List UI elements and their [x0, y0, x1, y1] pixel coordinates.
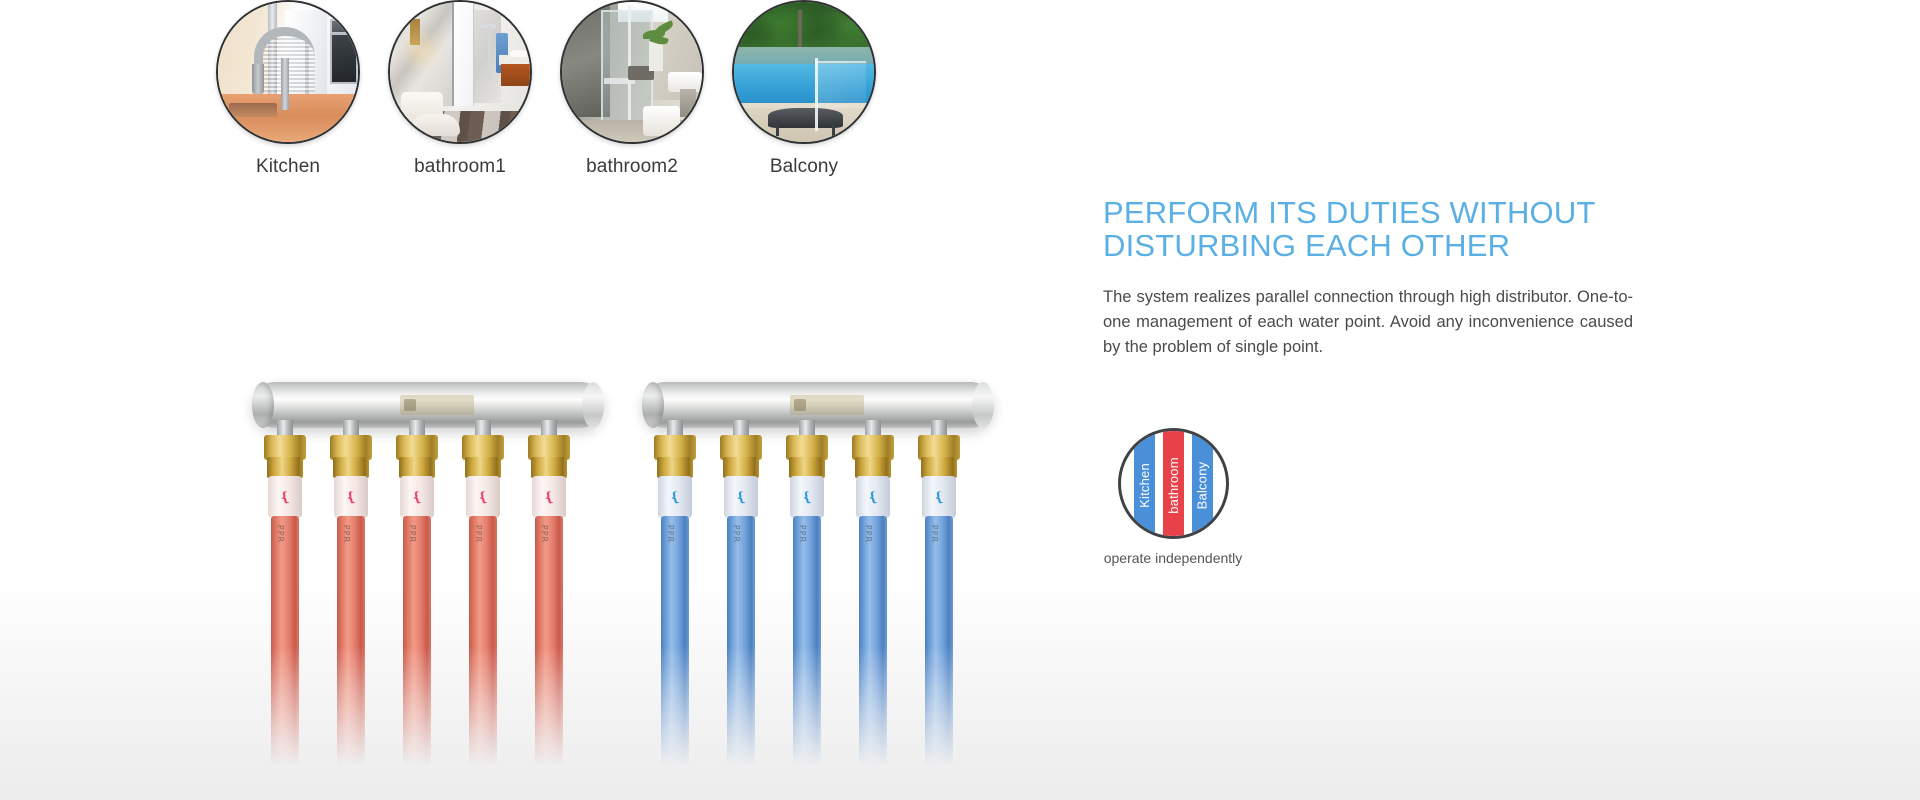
pipe-socket: ❴: [790, 476, 824, 518]
manifold-end-cap-right: [972, 382, 994, 428]
badge-stripe-balcony: Balcony: [1192, 428, 1213, 539]
manifold-end-cap-right: [582, 382, 604, 428]
room-thumbnail-bathroom2[interactable]: bathroom2: [544, 0, 720, 178]
cold-water-pipe: PPR: [727, 516, 755, 766]
pipe-print-text: PPR: [408, 525, 417, 543]
cold-water-pipe: PPR: [925, 516, 953, 766]
socket-logo-icon: ❴: [344, 489, 358, 506]
badge-caption: operate independently: [1103, 550, 1243, 566]
pipe-socket: ❴: [922, 476, 956, 518]
room-thumbnail-label: Balcony: [716, 156, 892, 178]
copy-block: PERFORM ITS DUTIES WITHOUT DISTURBING EA…: [1103, 196, 1633, 360]
page-title: PERFORM ITS DUTIES WITHOUT DISTURBING EA…: [1103, 196, 1633, 263]
socket-logo-icon: ❴: [866, 489, 880, 506]
pipe-socket: ❴: [532, 476, 566, 518]
hot-water-pipe: PPR: [403, 516, 431, 766]
room-thumbnail-balcony[interactable]: Balcony: [716, 0, 892, 178]
cold-water-pipe: PPR: [793, 516, 821, 766]
pipe-print-text: PPR: [798, 525, 807, 543]
room-thumbnail-label: Kitchen: [200, 156, 376, 178]
cold-water-pipe: PPR: [661, 516, 689, 766]
socket-logo-icon: ❴: [800, 489, 814, 506]
pipe-print-text: PPR: [930, 525, 939, 543]
room-thumbnail-label: bathroom1: [372, 156, 548, 178]
socket-logo-icon: ❴: [476, 489, 490, 506]
brass-collar: [723, 457, 759, 478]
promo-banner: Kitchen: [0, 0, 1920, 800]
pipe-socket: ❴: [400, 476, 434, 518]
badge-stripe-kitchen: Kitchen: [1134, 428, 1155, 539]
cold-water-manifold: ❴ PPR ❴ PPR ❴ PPR ❴ PPR ❴: [642, 382, 1002, 712]
pipe-socket: ❴: [856, 476, 890, 518]
brand-label: [400, 395, 474, 415]
pipe-print-text: PPR: [864, 525, 873, 543]
pipe-print-text: PPR: [342, 525, 351, 543]
room-thumbnail-bathroom1[interactable]: bathroom1: [372, 0, 548, 178]
room-thumbnail-kitchen[interactable]: Kitchen: [200, 0, 376, 178]
pipe-socket: ❴: [334, 476, 368, 518]
balcony-pool-photo: [732, 0, 876, 144]
brass-collar: [657, 457, 693, 478]
brass-collar: [531, 457, 567, 478]
cold-water-pipe: PPR: [859, 516, 887, 766]
badge-stripe-label: bathroom: [1166, 457, 1181, 514]
pipe-print-text: PPR: [666, 525, 675, 543]
badge-circle-icon: Kitchen bathroom Balcony: [1118, 428, 1229, 539]
hot-water-pipe: PPR: [337, 516, 365, 766]
manifold-end-cap-left: [252, 382, 274, 428]
socket-logo-icon: ❴: [734, 489, 748, 506]
brass-collar: [855, 457, 891, 478]
independent-operation-badge: Kitchen bathroom Balcony operate indepen…: [1103, 428, 1243, 566]
room-thumbnail-label: bathroom2: [544, 156, 720, 178]
kitchen-faucet-photo: [216, 0, 360, 144]
brass-collar: [333, 457, 369, 478]
socket-logo-icon: ❴: [932, 489, 946, 506]
bathroom-shower-photo: [560, 0, 704, 144]
pipe-socket: ❴: [724, 476, 758, 518]
pipe-socket: ❴: [466, 476, 500, 518]
pipe-socket: ❴: [658, 476, 692, 518]
socket-logo-icon: ❴: [668, 489, 682, 506]
badge-stripe-label: Kitchen: [1137, 463, 1152, 508]
socket-logo-icon: ❴: [410, 489, 424, 506]
hot-water-pipe: PPR: [271, 516, 299, 766]
badge-stripe-bathroom: bathroom: [1163, 428, 1184, 539]
brass-collar: [399, 457, 435, 478]
pipe-print-text: PPR: [474, 525, 483, 543]
pipe-print-text: PPR: [540, 525, 549, 543]
hot-water-manifold: ❴ PPR ❴ PPR ❴ PPR ❴ PPR ❴: [252, 382, 612, 712]
brand-label: [790, 395, 864, 415]
socket-logo-icon: ❴: [542, 489, 556, 506]
pipe-print-text: PPR: [732, 525, 741, 543]
brass-collar: [267, 457, 303, 478]
manifold-end-cap-left: [642, 382, 664, 428]
hot-water-pipe: PPR: [535, 516, 563, 766]
brass-collar: [465, 457, 501, 478]
pipe-socket: ❴: [268, 476, 302, 518]
badge-stripe-label: Balcony: [1195, 461, 1210, 509]
description-text: The system realizes parallel connection …: [1103, 285, 1633, 360]
pipe-print-text: PPR: [276, 525, 285, 543]
bathroom-toilet-photo: [388, 0, 532, 144]
socket-logo-icon: ❴: [278, 489, 292, 506]
brass-collar: [789, 457, 825, 478]
brass-collar: [921, 457, 957, 478]
room-thumbnail-row: Kitchen: [200, 0, 1040, 310]
hot-water-pipe: PPR: [469, 516, 497, 766]
